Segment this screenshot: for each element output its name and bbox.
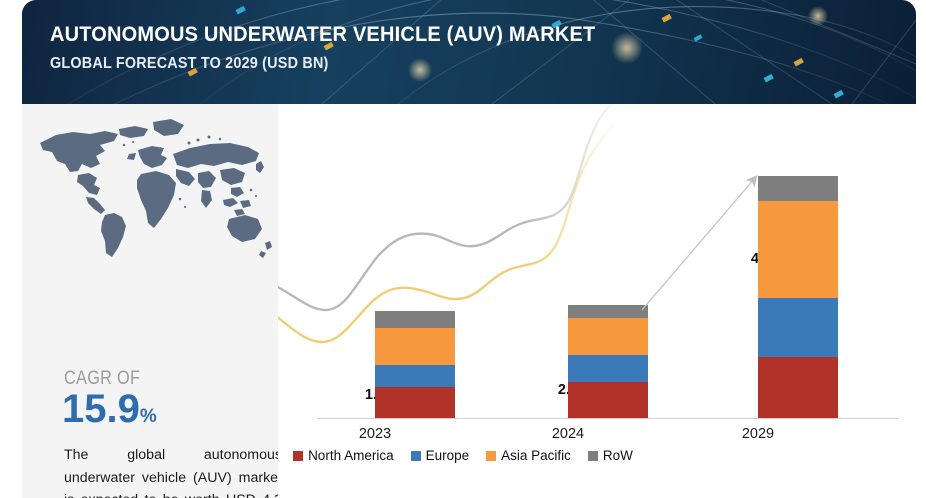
- page-title: AUTONOMOUS UNDERWATER VEHICLE (AUV) MARK…: [50, 22, 595, 47]
- legend-swatch-row: [588, 451, 598, 461]
- legend-item-row: RoW: [588, 448, 633, 463]
- legend-label-row: RoW: [603, 448, 633, 463]
- legend-label-north-america: North America: [308, 448, 394, 463]
- legend-swatch-europe: [411, 451, 421, 461]
- legend-swatch-asia-pacific: [486, 451, 496, 461]
- cagr-percent-sign: %: [140, 406, 157, 427]
- legend-swatch-north-america: [293, 451, 303, 461]
- chart-panel: 1.8 2023 2.0 2024 4.3: [278, 104, 916, 498]
- legend-label-asia-pacific: Asia Pacific: [501, 448, 571, 463]
- header-text-block: AUTONOMOUS UNDERWATER VEHICLE (AUV) MARK…: [50, 22, 637, 73]
- world-map-icon: [30, 112, 274, 262]
- page-subtitle: GLOBAL FORECAST TO 2029 (USD BN): [50, 55, 595, 73]
- cagr-number: 15.9: [62, 387, 140, 431]
- legend-label-europe: Europe: [426, 448, 470, 463]
- world-map: [30, 112, 274, 262]
- growth-arrow: [278, 104, 916, 498]
- legend-item-north-america: North America: [293, 448, 394, 463]
- left-summary-panel: CAGR OF 15.9% The global autonomous unde…: [22, 104, 278, 498]
- header-banner: AUTONOMOUS UNDERWATER VEHICLE (AUV) MARK…: [22, 0, 916, 104]
- infographic-root: AUTONOMOUS UNDERWATER VEHICLE (AUV) MARK…: [0, 0, 926, 498]
- legend-item-asia-pacific: Asia Pacific: [486, 448, 571, 463]
- cagr-value-block: 15.9%: [62, 389, 157, 437]
- legend-item-europe: Europe: [411, 448, 470, 463]
- bar-chart: 1.8 2023 2.0 2024 4.3: [278, 104, 916, 498]
- chart-legend: North America Europe Asia Pacific RoW: [0, 448, 926, 463]
